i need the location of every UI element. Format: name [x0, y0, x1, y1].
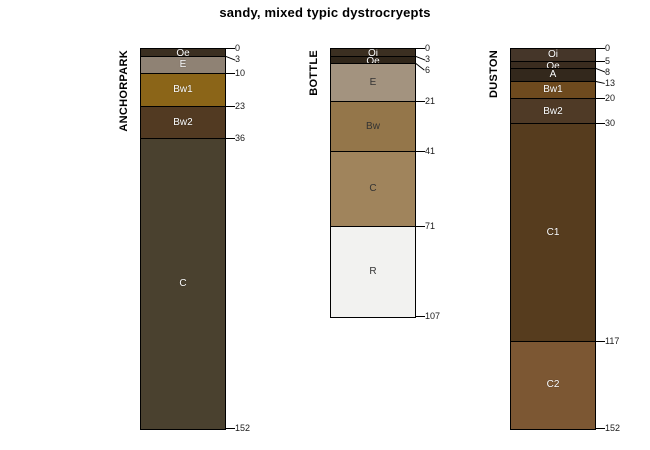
- horizon-label: Oi: [511, 50, 595, 60]
- depth-tick-leader: [596, 98, 605, 99]
- depth-tick-label: 107: [425, 312, 440, 321]
- horizon-bw2[interactable]: Bw2: [141, 107, 225, 140]
- depth-tick-label: 5: [605, 57, 610, 66]
- depth-tick-label: 71: [425, 222, 435, 231]
- profile-name-label: ANCHORPARK: [118, 50, 130, 132]
- depth-tick-leader: [416, 101, 425, 102]
- horizon-label: E: [331, 78, 415, 88]
- depth-tick-leader: [596, 48, 605, 49]
- depth-tick-leader: [596, 428, 605, 429]
- horizon-label: Bw2: [511, 107, 595, 117]
- horizon-label: E: [141, 60, 225, 70]
- depth-tick-label: 0: [605, 44, 610, 53]
- horizon-label: C: [331, 184, 415, 194]
- depth-tick-leader: [226, 48, 235, 49]
- depth-tick-label: 3: [235, 55, 240, 64]
- depth-tick-leader: [416, 48, 425, 49]
- profile-name-label: DUSTON: [488, 50, 500, 98]
- profile-column: OiOeABw1Bw2C1C2: [510, 48, 596, 430]
- depth-tick-leader: [226, 106, 235, 107]
- depth-tick-leader: [226, 138, 235, 139]
- horizon-c[interactable]: C: [141, 139, 225, 429]
- horizon-label: R: [331, 267, 415, 277]
- horizon-label: Bw: [331, 122, 415, 132]
- horizon-label: Oe: [511, 62, 595, 70]
- horizon-bw[interactable]: Bw: [331, 102, 415, 152]
- horizon-label: Bw2: [141, 118, 225, 128]
- depth-tick-label: 0: [235, 44, 240, 53]
- horizon-oi[interactable]: Oi: [331, 49, 415, 57]
- horizon-label: Bw1: [141, 85, 225, 95]
- profile-name-label: BOTTLE: [308, 50, 320, 96]
- depth-tick-label: 20: [605, 94, 615, 103]
- depth-tick-label: 6: [425, 66, 430, 75]
- depth-tick-leader: [596, 68, 605, 72]
- horizon-label: Oe: [141, 49, 225, 57]
- horizon-label: A: [511, 70, 595, 80]
- depth-tick-label: 21: [425, 97, 435, 106]
- depth-tick-leader: [416, 226, 425, 227]
- horizon-oe[interactable]: Oe: [141, 49, 225, 57]
- depth-tick-leader: [415, 63, 425, 71]
- horizon-label: Oi: [331, 49, 415, 57]
- depth-tick-label: 152: [605, 424, 620, 433]
- depth-tick-label: 117: [605, 337, 619, 346]
- depth-tick-leader: [226, 56, 235, 60]
- horizon-oi[interactable]: Oi: [511, 49, 595, 62]
- depth-tick-leader: [416, 151, 425, 152]
- depth-tick-leader: [596, 123, 605, 124]
- depth-tick-label: 8: [605, 68, 610, 77]
- depth-tick-leader: [416, 316, 425, 317]
- horizon-a[interactable]: A: [511, 69, 595, 82]
- depth-tick-label: 10: [235, 69, 245, 78]
- profile-column: OiOeEBwCR: [330, 48, 416, 318]
- horizon-oe[interactable]: Oe: [331, 57, 415, 65]
- depth-tick-leader: [226, 73, 235, 74]
- depth-tick-leader: [596, 341, 605, 342]
- depth-tick-label: 13: [605, 79, 615, 88]
- horizon-label: Oe: [331, 57, 415, 65]
- horizon-c[interactable]: C: [331, 152, 415, 227]
- horizon-r[interactable]: R: [331, 227, 415, 317]
- depth-tick-leader: [416, 56, 425, 60]
- horizon-c1[interactable]: C1: [511, 124, 595, 342]
- depth-tick-label: 3: [425, 55, 430, 64]
- page-title: sandy, mixed typic dystrocryepts: [0, 5, 650, 20]
- horizon-bw2[interactable]: Bw2: [511, 99, 595, 124]
- depth-tick-leader: [226, 428, 235, 429]
- horizon-label: Bw1: [511, 85, 595, 95]
- horizon-label: C2: [511, 380, 595, 390]
- depth-tick-leader: [596, 61, 605, 62]
- depth-tick-leader: [596, 81, 605, 84]
- horizon-bw1[interactable]: Bw1: [141, 74, 225, 107]
- horizon-e[interactable]: E: [141, 57, 225, 75]
- depth-tick-label: 30: [605, 119, 615, 128]
- depth-tick-label: 36: [235, 134, 245, 143]
- depth-tick-label: 23: [235, 102, 245, 111]
- depth-tick-label: 0: [425, 44, 430, 53]
- horizon-bw1[interactable]: Bw1: [511, 82, 595, 100]
- horizon-c2[interactable]: C2: [511, 342, 595, 430]
- horizon-label: C1: [511, 228, 595, 238]
- profile-column: OeEBw1Bw2C: [140, 48, 226, 430]
- horizon-e[interactable]: E: [331, 64, 415, 102]
- depth-tick-label: 152: [235, 424, 250, 433]
- horizon-oe[interactable]: Oe: [511, 62, 595, 70]
- horizon-label: C: [141, 279, 225, 289]
- depth-tick-label: 41: [425, 147, 435, 156]
